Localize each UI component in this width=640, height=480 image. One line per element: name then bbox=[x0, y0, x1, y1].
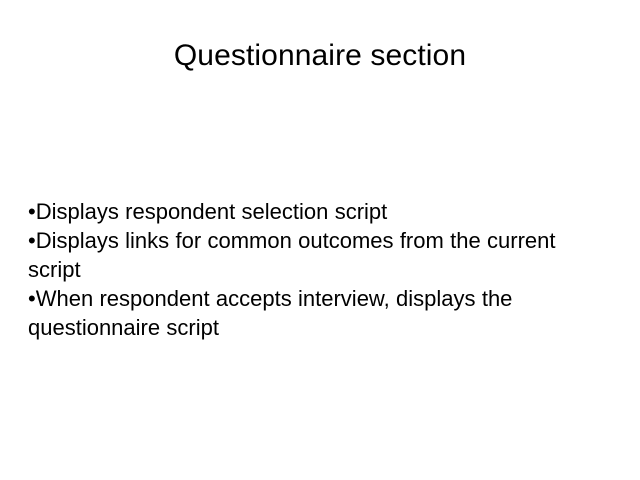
bullet-point-icon: • bbox=[28, 199, 36, 224]
slide-title: Questionnaire section bbox=[0, 38, 640, 74]
bullet-item-text: Displays links for common outcomes from … bbox=[28, 228, 556, 282]
bullet-list-item: •Displays respondent selection script bbox=[28, 197, 614, 226]
bullet-list-item: •Displays links for common outcomes from… bbox=[28, 226, 614, 284]
presentation-slide: Questionnaire section •Displays responde… bbox=[0, 0, 640, 480]
bullet-point-icon: • bbox=[28, 286, 36, 311]
slide-body-content: •Displays respondent selection script •D… bbox=[28, 197, 614, 342]
bullet-item-text: Displays respondent selection script bbox=[36, 199, 388, 224]
bullet-point-icon: • bbox=[28, 228, 36, 253]
bullet-item-text: When respondent accepts interview, displ… bbox=[28, 286, 512, 340]
bullet-list-item: •When respondent accepts interview, disp… bbox=[28, 284, 614, 342]
